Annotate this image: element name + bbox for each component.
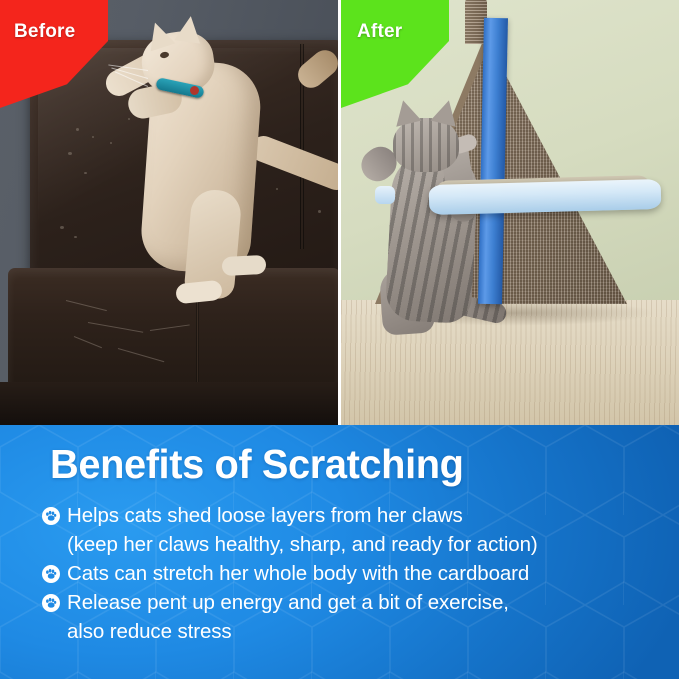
product-infographic: Before Af — [0, 0, 679, 679]
cat-paw — [222, 255, 267, 276]
list-item-text: Helps cats shed loose layers from her cl… — [67, 501, 463, 530]
couch-scuff — [60, 226, 64, 229]
couch-scuff — [84, 172, 87, 174]
before-badge-shape — [0, 0, 108, 108]
couch-scuff — [68, 152, 72, 155]
cat-ear — [174, 14, 203, 43]
list-item: Helps cats shed loose layers from her cl… — [42, 501, 662, 530]
paw-icon — [42, 565, 60, 583]
couch-scuff — [92, 136, 94, 138]
blue-horizontal-shelf — [429, 179, 662, 215]
after-badge-label: After — [357, 22, 402, 41]
after-badge: After — [341, 0, 449, 108]
list-item-text: (keep her claws healthy, sharp, and read… — [67, 530, 538, 559]
before-photo: Before — [0, 0, 338, 425]
page-title: Benefits of Scratching — [50, 444, 464, 485]
paw-icon — [42, 507, 60, 525]
list-item-continuation: also reduce stress — [42, 617, 662, 646]
kitten-head — [393, 118, 459, 172]
list-item-continuation: (keep her claws healthy, sharp, and read… — [42, 530, 662, 559]
couch-scuff — [128, 118, 130, 120]
list-item-text: also reduce stress — [67, 617, 232, 646]
shelf-left-end — [375, 186, 395, 204]
couch-base — [0, 382, 338, 425]
cat-collar-tag — [190, 86, 199, 95]
list-item: Release pent up energy and get a bit of … — [42, 588, 662, 617]
couch-scuff — [110, 142, 112, 144]
list-item: Cats can stretch her whole body with the… — [42, 559, 662, 588]
before-after-comparison: Before Af — [0, 0, 679, 425]
benefits-panel: Benefits of Scratching Helps cats shed l… — [0, 425, 679, 679]
list-item-text: Cats can stretch her whole body with the… — [67, 559, 529, 588]
list-item-text: Release pent up energy and get a bit of … — [67, 588, 509, 617]
paw-icon — [42, 594, 60, 612]
benefits-list: Helps cats shed loose layers from her cl… — [42, 501, 662, 646]
before-badge: Before — [0, 0, 108, 108]
couch-scuff — [276, 188, 278, 190]
couch-scuff — [76, 128, 79, 131]
after-badge-shape — [341, 0, 449, 108]
couch-scuff — [74, 236, 77, 238]
after-photo: After — [341, 0, 679, 425]
before-badge-label: Before — [14, 22, 75, 41]
couch-scuff — [318, 210, 321, 213]
couch-seat — [8, 268, 338, 388]
